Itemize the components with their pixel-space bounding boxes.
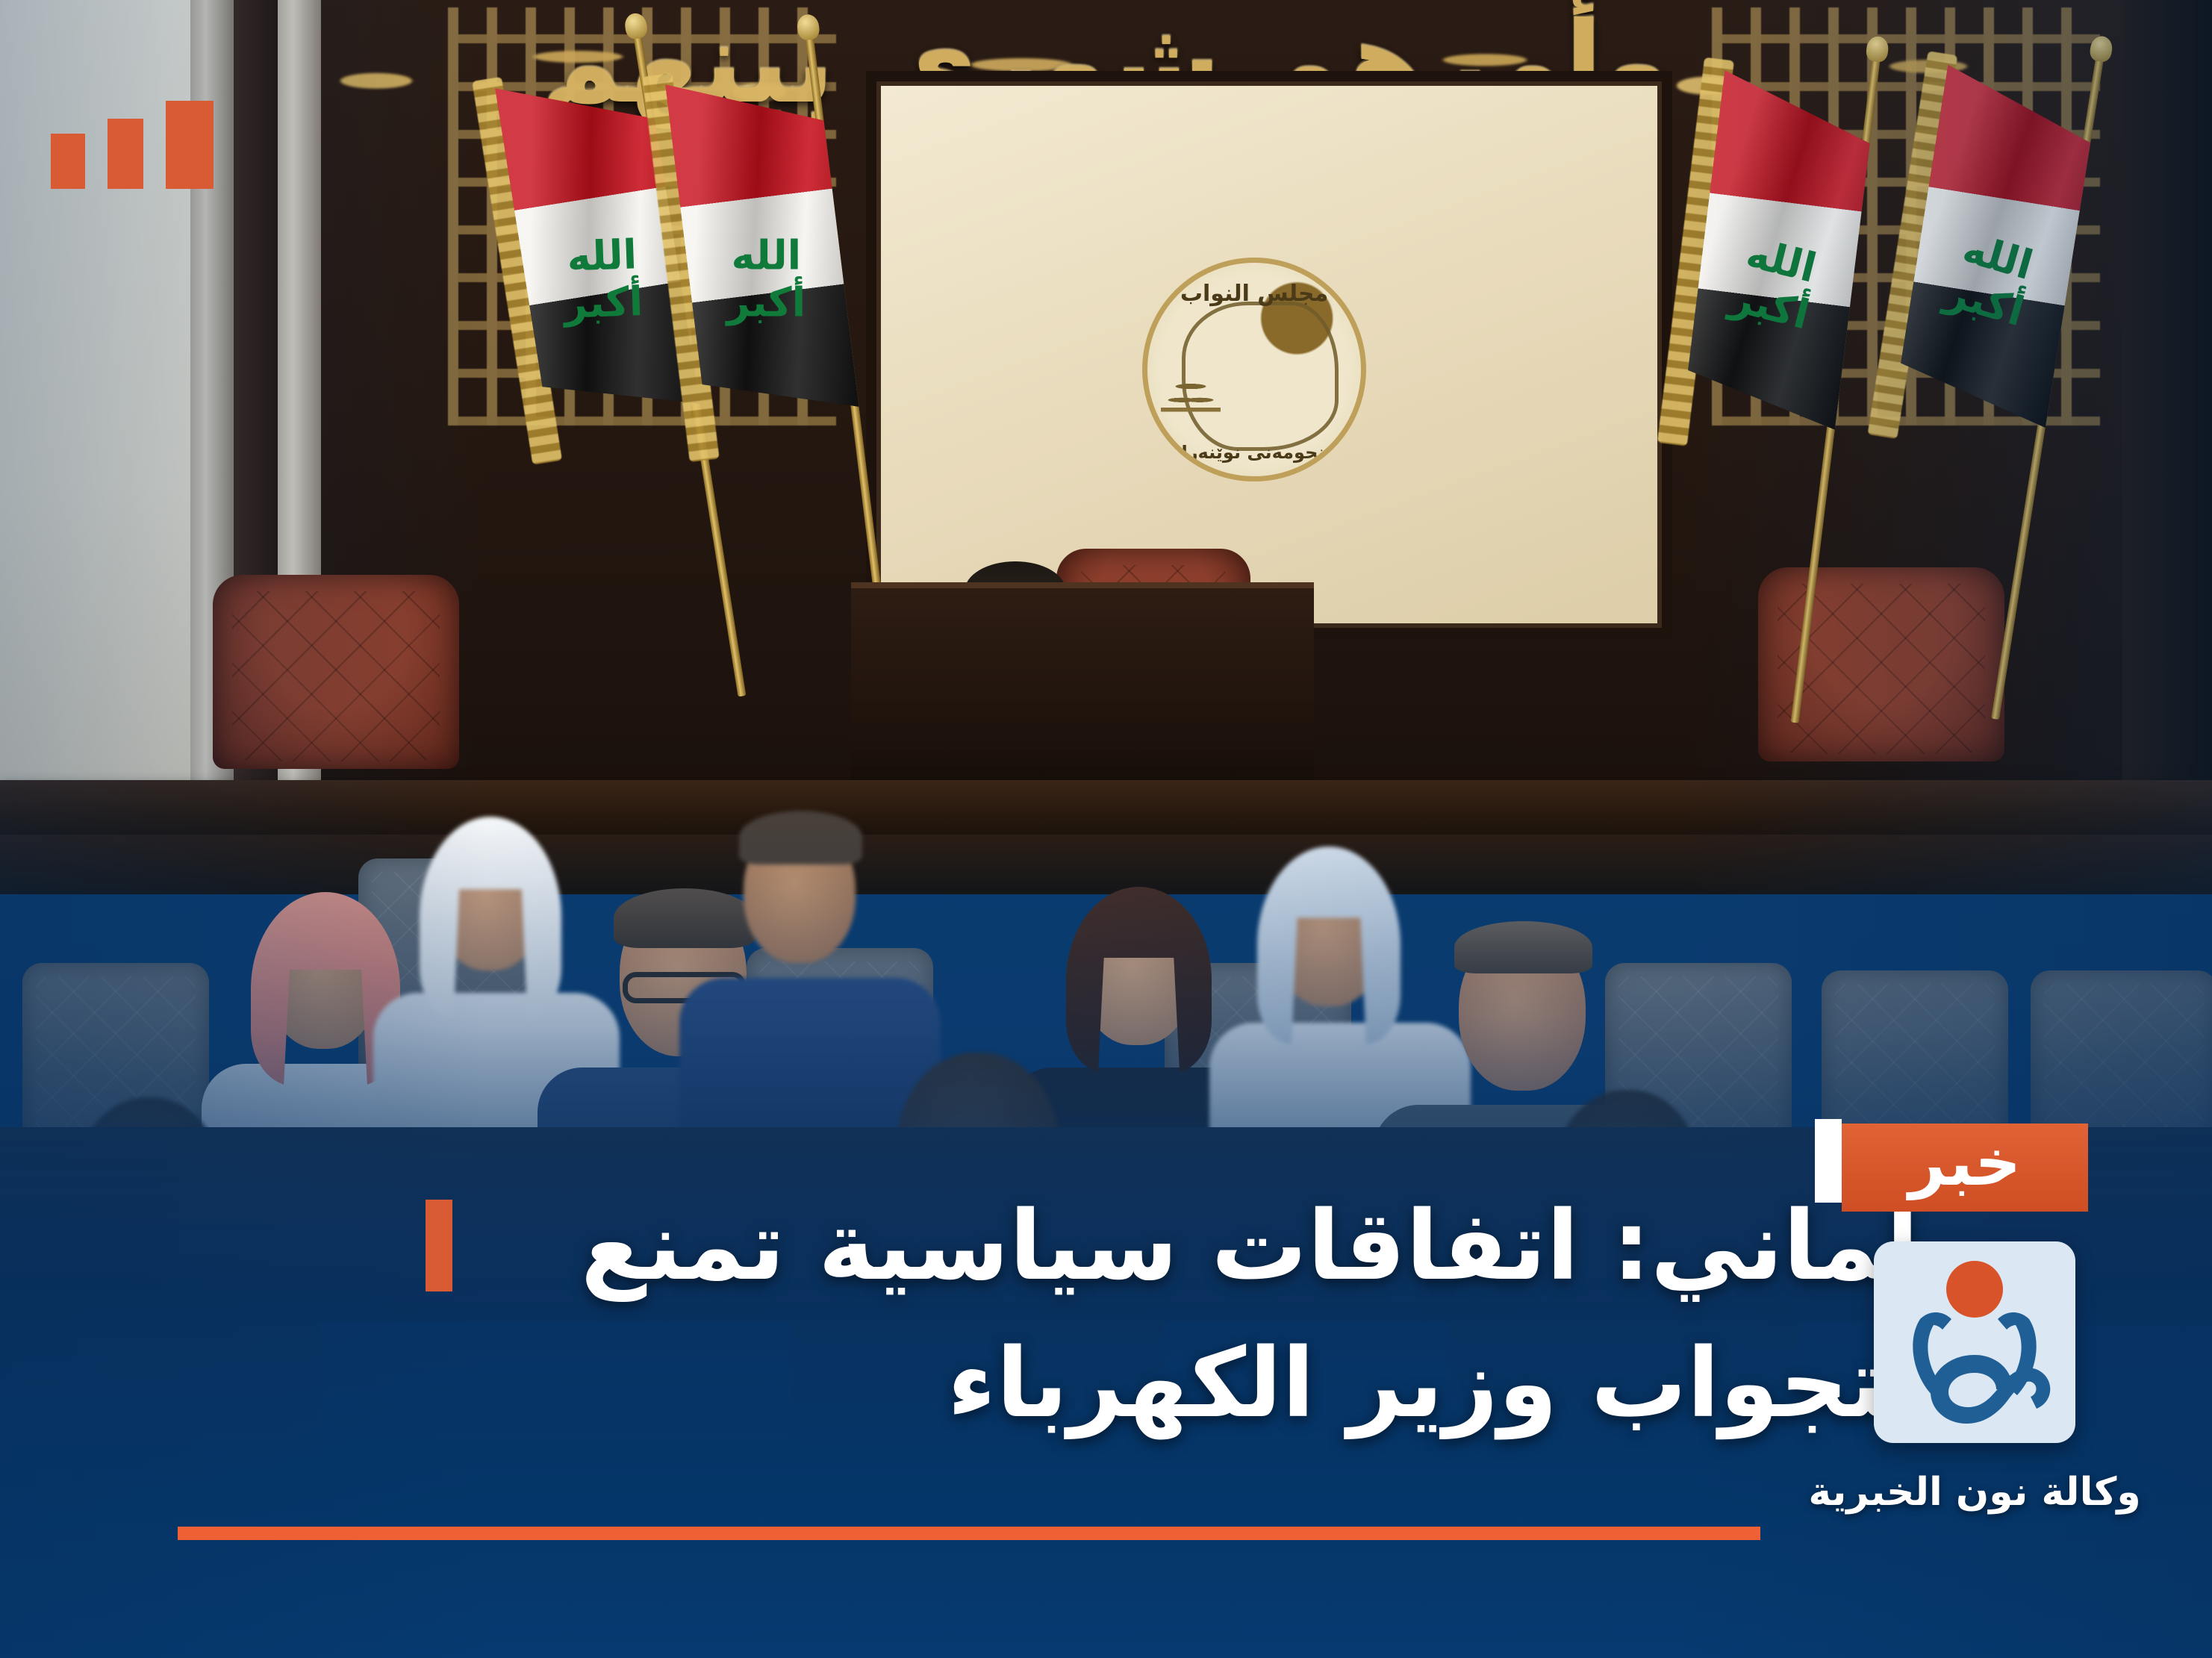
noon-agency-logo-icon [1874,1241,2075,1443]
bar-1 [166,101,214,189]
headline-line-1: برلماني: اتفاقات سياسية تمنع [402,1178,2014,1315]
bar-3 [51,134,85,189]
news-badge: خبر [1842,1123,2088,1212]
headline: برلماني: اتفاقات سياسية تمنع استجواب وزي… [402,1178,2014,1453]
orange-divider [178,1527,1760,1540]
brand-name: وكالة نون الخبرية [1808,1470,2140,1515]
three-bars-mark-icon [51,101,214,189]
badge-label: خبر [1909,1131,2022,1195]
logo-figure-icon [1874,1241,2075,1443]
bar-2 [108,119,143,189]
badge-white-bar [1815,1119,1842,1203]
headline-line-2: استجواب وزير الكهرباء [402,1315,2014,1453]
news-card: وأمرهم شورى بينهم مجلس النواب ئەنجومەنی … [0,0,2212,1658]
brand-block: خبر وكالة نون الخبرية [1795,1123,2154,1515]
